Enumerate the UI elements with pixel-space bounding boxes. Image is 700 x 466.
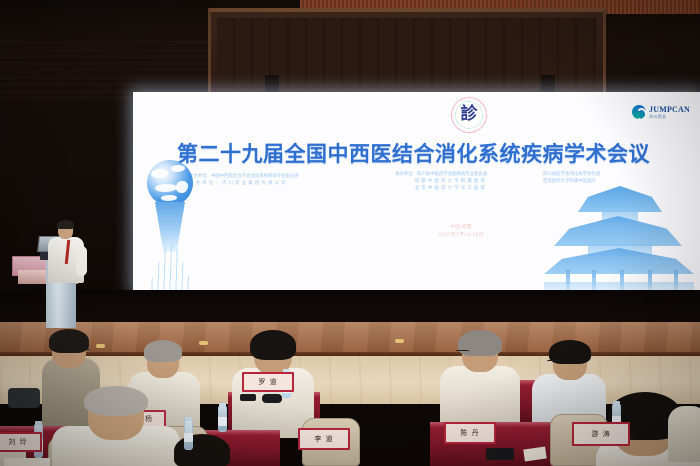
glasses-icon xyxy=(547,360,560,363)
torch-light-rays xyxy=(147,244,195,290)
screen-lower-skirt xyxy=(0,290,700,326)
nameplate: 陈 丹 xyxy=(444,422,496,444)
organizer-line: 成都中医药大学附属医院 xyxy=(395,179,487,186)
hair xyxy=(174,434,230,466)
hair xyxy=(250,330,296,360)
nameplate: 游 涛 xyxy=(572,422,630,446)
pagoda-illustration xyxy=(544,182,694,290)
jumpcan-wordmark: JUMPCAN 济川药业 xyxy=(649,106,690,119)
remote-device xyxy=(262,394,282,403)
nameplate-text: 陈 丹 xyxy=(460,428,479,438)
event-date: 2017年7月14-16日 xyxy=(391,232,531,240)
screen-top-glow xyxy=(133,92,700,96)
presenter-hair xyxy=(57,220,74,229)
nameplate-text: 罗 道 xyxy=(258,377,277,387)
nameplate: 刘 玲 xyxy=(0,432,42,452)
organizer-line: 协办单位：济川药业集团有限公司 xyxy=(189,181,299,188)
globe-icon xyxy=(147,160,193,206)
led-presentation-screen: 診 JUMPCAN 济川药业 第二十九届全国中西医结合消化系统疾病学术会议 主办… xyxy=(133,92,700,290)
phone xyxy=(240,394,256,401)
jumpcan-logo-english: JUMPCAN xyxy=(649,106,690,114)
emblem-glyph: 診 xyxy=(452,106,486,123)
hair xyxy=(84,386,148,416)
water-bottle xyxy=(184,420,193,450)
conference-title: 第二十九届全国中西医结合消化系统疾病学术会议 xyxy=(177,138,657,168)
glasses-icon xyxy=(76,349,90,352)
water-bottle xyxy=(218,406,227,432)
remote-device xyxy=(486,448,514,460)
event-location: 中国·成都 xyxy=(391,224,531,232)
organizer-line: 北京中医药大学东方医院 xyxy=(395,186,487,193)
audience-area: 罗 道 杨 xyxy=(0,330,700,466)
nameplate-text: 游 涛 xyxy=(591,429,610,439)
presenter-arm xyxy=(76,246,87,276)
jumpcan-logo-chinese: 济川药业 xyxy=(649,115,690,119)
nameplate: 罗 道 xyxy=(242,372,294,392)
organizer-line: 承办单位：四川省中医药学会脏腑病专业委员会 xyxy=(395,172,487,179)
nameplate-text: 刘 玲 xyxy=(8,437,27,447)
nameplate-text: 杨 xyxy=(145,414,153,424)
glasses-icon xyxy=(456,350,469,353)
organizer-line: 四川省医学会消化病学协作组 xyxy=(543,172,600,179)
paper-sheet xyxy=(4,458,50,466)
nameplate: 李 道 xyxy=(298,428,350,450)
proscenium-arch xyxy=(208,8,606,100)
jumpcan-logo: JUMPCAN 济川药业 xyxy=(632,105,690,119)
jumpcan-mark-icon xyxy=(632,105,646,119)
conference-photo-scene: 診 JUMPCAN 济川药业 第二十九届全国中西医结合消化系统疾病学术会议 主办… xyxy=(0,0,700,466)
medical-society-emblem-icon: 診 xyxy=(451,97,487,133)
hair xyxy=(144,340,182,362)
event-date-location: 中国·成都 2017年7月14-16日 xyxy=(391,224,531,240)
nameplate-text: 李 道 xyxy=(314,434,333,444)
organizer-credits-middle: 承办单位：四川省中医药学会脏腑病专业委员会 成都中医药大学附属医院 北京中医药大… xyxy=(395,172,487,192)
organizer-credits-left: 主办单位：中国中西医结合学会消化系统疾病专业委员会 协办单位：济川药业集团有限公… xyxy=(189,174,299,188)
organizer-line: 主办单位：中国中西医结合学会消化系统疾病专业委员会 xyxy=(189,174,299,181)
laptop-bag xyxy=(8,388,40,408)
